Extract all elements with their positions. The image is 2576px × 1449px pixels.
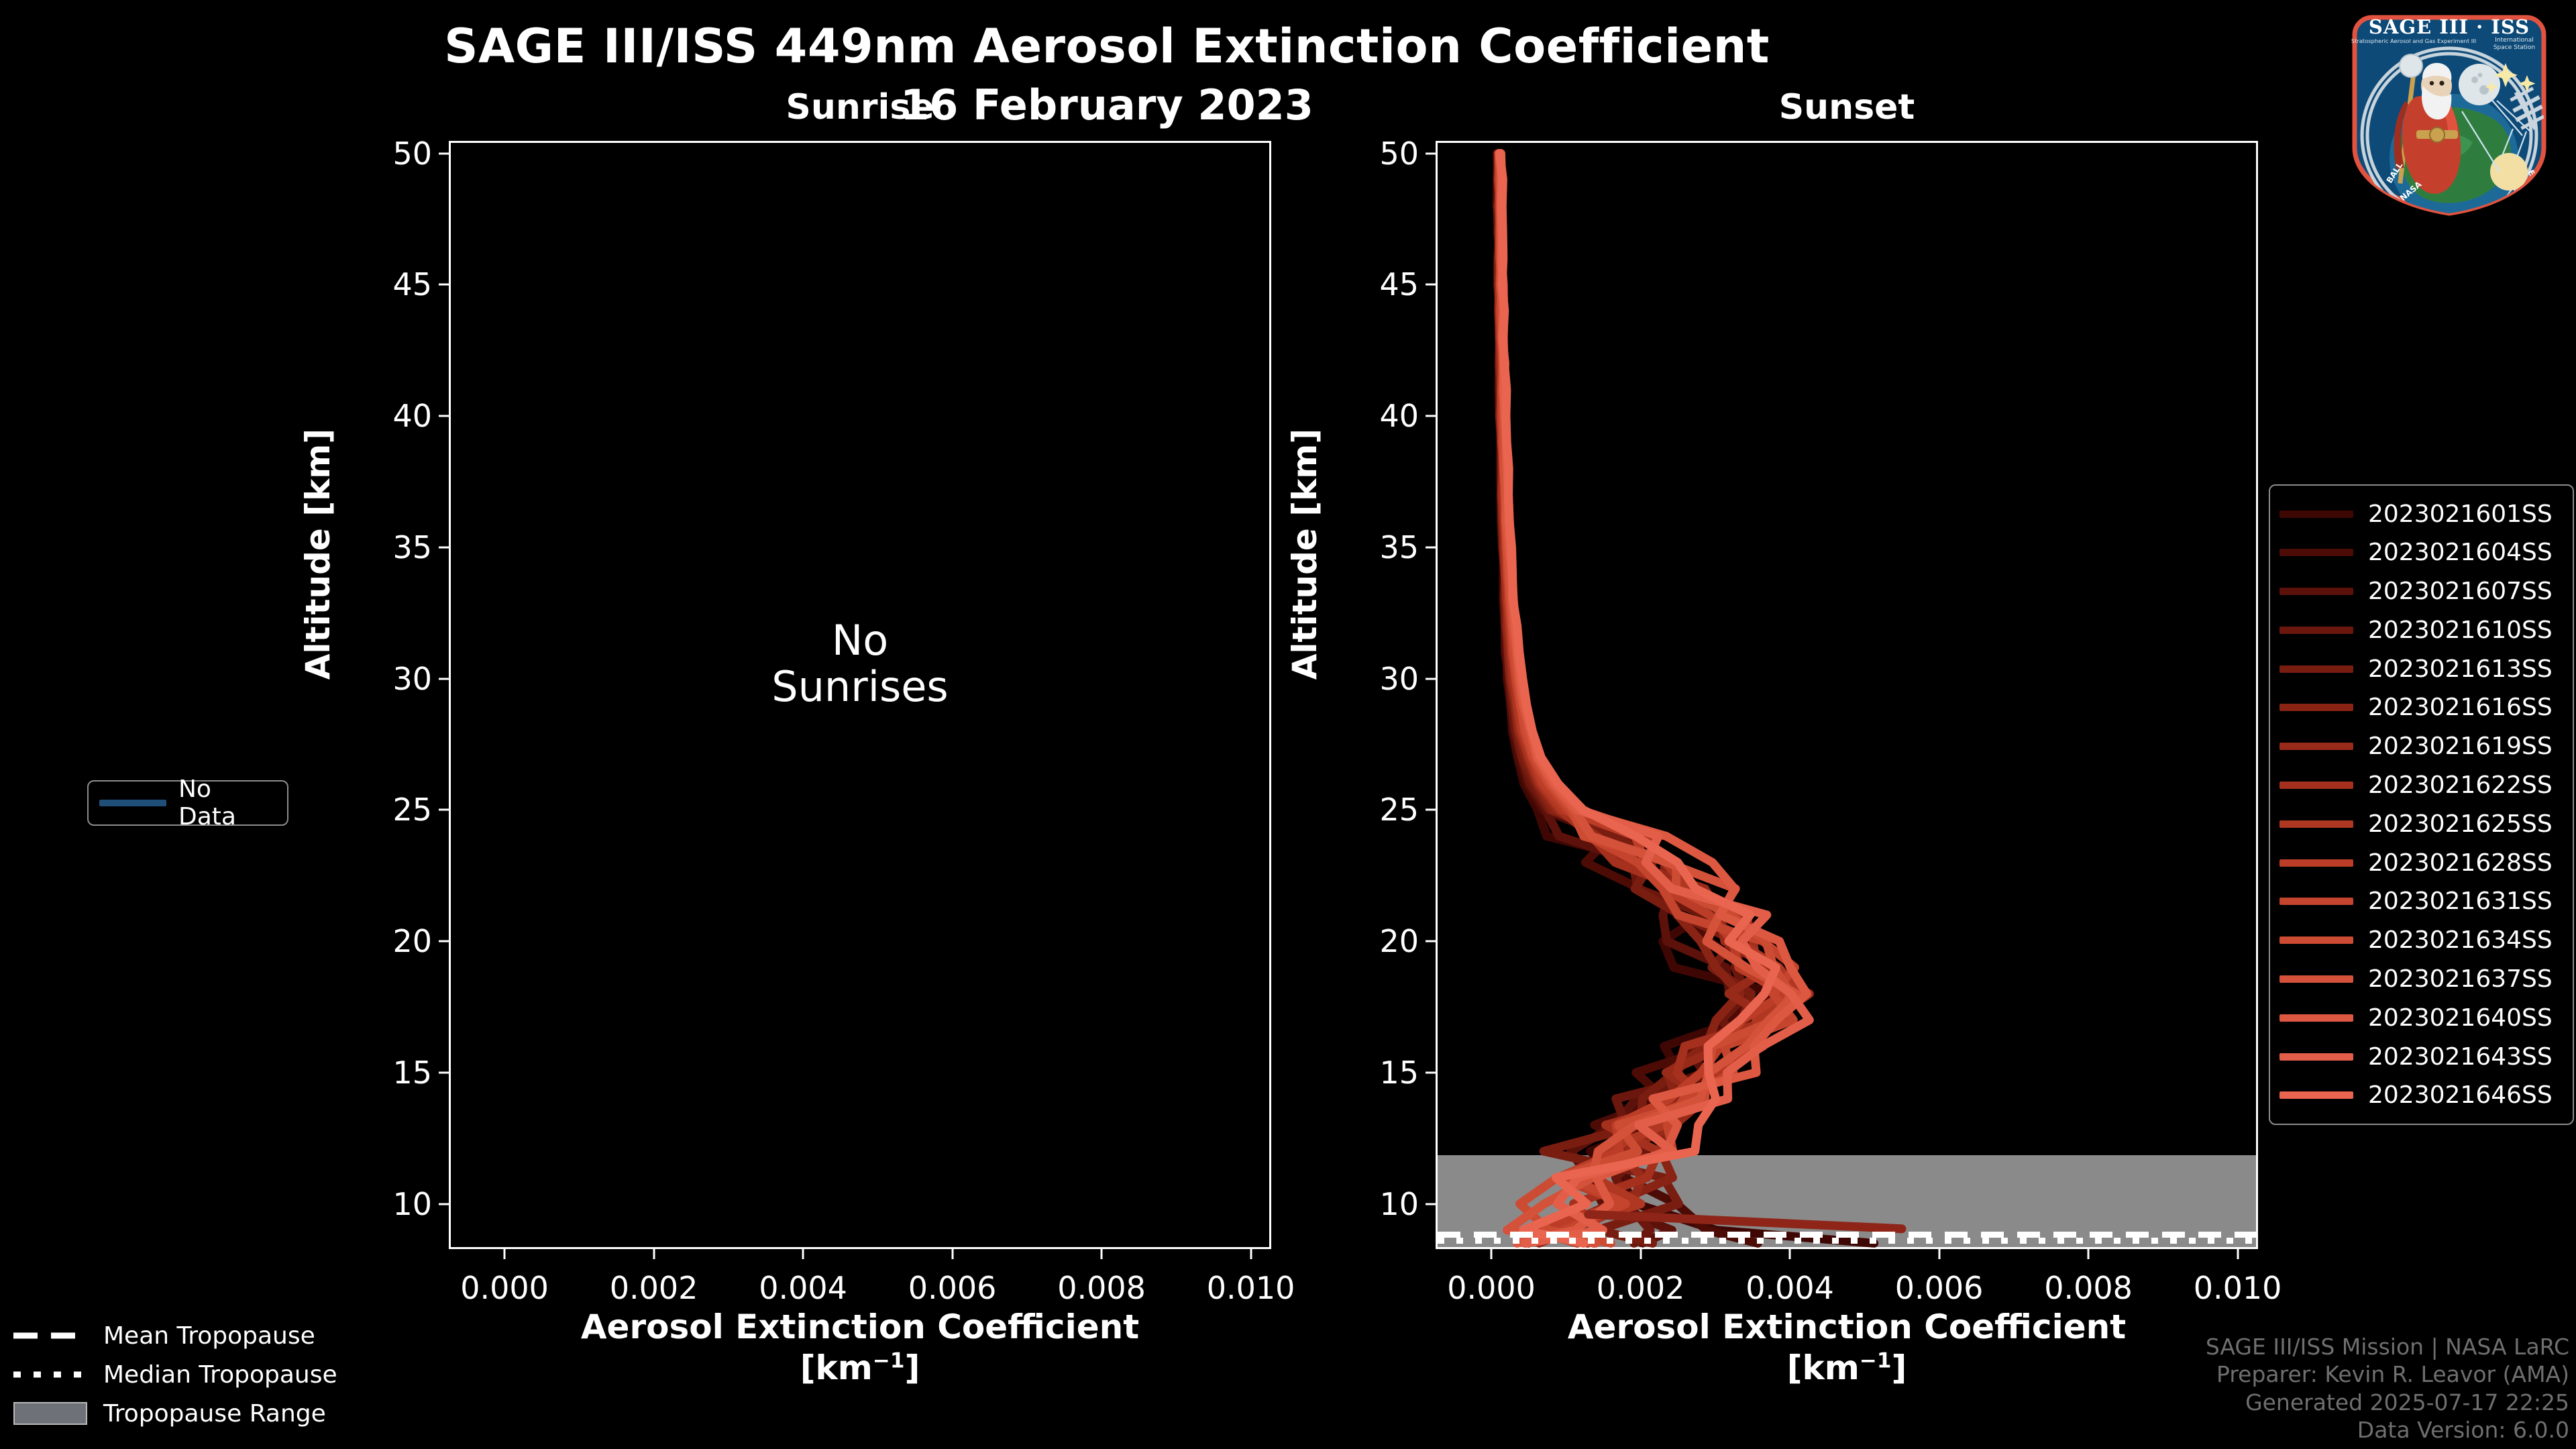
legend-item-2023021607SS[interactable]: 2023021607SS (2279, 574, 2563, 609)
x-tick-label: 0.004 (1746, 1270, 1834, 1306)
legend-item-label: 2023021634SS (2368, 926, 2553, 954)
legend-color-swatch (2279, 704, 2353, 711)
y-tick-mark (439, 415, 451, 417)
legend-item-2023021637SS[interactable]: 2023021637SS (2279, 962, 2563, 997)
legend-item-tropopause-range: Tropopause Range (13, 1396, 362, 1431)
no-data-legend: No Data (87, 780, 288, 826)
y-tick-mark (439, 152, 451, 154)
no-data-swatch (99, 800, 166, 806)
legend-color-swatch (2279, 743, 2353, 750)
y-tick-label: 15 (392, 1055, 432, 1091)
legend-item-label: 2023021637SS (2368, 965, 2553, 993)
y-tick-mark (1426, 546, 1438, 548)
y-tick-label: 30 (1379, 661, 1419, 697)
no-sunrises-line-2: Sunrises (449, 663, 1271, 710)
legend-item-2023021646SS[interactable]: 2023021646SS (2279, 1078, 2563, 1113)
dotted-line-icon (13, 1367, 87, 1382)
credits-block: SAGE III/ISS Mission | NASA LaRCPreparer… (2206, 1333, 2569, 1444)
y-tick-mark (1426, 941, 1438, 943)
sunset-x-axis-units: [km−1] (1436, 1348, 2258, 1389)
no-data-label: No Data (178, 775, 276, 830)
credit-line: Preparer: Kevin R. Leavor (AMA) (2206, 1360, 2569, 1388)
svg-text:SAGE III · ISS: SAGE III · ISS (2369, 15, 2530, 38)
series-legend[interactable]: 2023021601SS2023021604SS2023021607SS2023… (2269, 484, 2574, 1125)
legend-item-2023021628SS[interactable]: 2023021628SS (2279, 845, 2563, 880)
legend-item-2023021643SS[interactable]: 2023021643SS (2279, 1039, 2563, 1074)
legend-item-label: 2023021640SS (2368, 1004, 2553, 1032)
legend-color-swatch (2279, 1053, 2353, 1061)
y-tick-mark (439, 809, 451, 811)
legend-item-2023021604SS[interactable]: 2023021604SS (2279, 535, 2563, 570)
legend-color-swatch (2279, 627, 2353, 634)
y-tick-mark (1426, 809, 1438, 811)
x-tick-label: 0.002 (610, 1270, 698, 1306)
legend-item-label: 2023021625SS (2368, 810, 2553, 838)
x-tick-mark (2237, 1247, 2239, 1259)
x-tick-label: 0.010 (2194, 1270, 2282, 1306)
legend-item-label: 2023021619SS (2368, 733, 2553, 760)
sunset-y-axis-title: Altitude [km] (1285, 429, 1324, 680)
sunset-panel-heading: Sunset (1436, 87, 2258, 127)
y-tick-label: 50 (1379, 136, 1419, 172)
legend-item-2023021631SS[interactable]: 2023021631SS (2279, 884, 2563, 919)
y-tick-label: 15 (1379, 1055, 1419, 1091)
sunrise-x-axis-title-main: Aerosol Extinction Coefficient (449, 1307, 1271, 1348)
y-tick-label: 35 (1379, 529, 1419, 566)
y-tick-mark (1426, 284, 1438, 286)
legend-item-label: 2023021628SS (2368, 849, 2553, 877)
y-tick-mark (1426, 415, 1438, 417)
credit-line: Generated 2025-07-17 22:25 (2206, 1389, 2569, 1416)
y-tick-label: 10 (392, 1186, 432, 1222)
y-tick-label: 40 (392, 398, 432, 434)
x-tick-mark (951, 1247, 953, 1259)
x-tick-label: 0.006 (908, 1270, 997, 1306)
curves-svg (1438, 143, 2260, 1251)
legend-color-swatch (2279, 820, 2353, 828)
legend-item-2023021619SS[interactable]: 2023021619SS (2279, 729, 2563, 764)
y-tick-label: 40 (1379, 398, 1419, 434)
legend-item-label: 2023021616SS (2368, 694, 2553, 721)
svg-text:International: International (2495, 37, 2533, 44)
credit-line: Data Version: 6.0.0 (2206, 1416, 2569, 1444)
legend-item-mean-tropopause: Mean Tropopause (13, 1318, 362, 1353)
y-tick-mark (1426, 1203, 1438, 1205)
x-tick-label: 0.004 (759, 1270, 847, 1306)
y-tick-mark (439, 546, 451, 548)
median-tropopause-line (1438, 1238, 2256, 1244)
sunrise-x-axis-title: Aerosol Extinction Coefficient [km−1] (449, 1307, 1271, 1389)
x-tick-label: 0.000 (460, 1270, 549, 1306)
legend-item-label: 2023021607SS (2368, 578, 2553, 605)
x-tick-mark (1640, 1247, 1642, 1259)
y-tick-mark (1426, 152, 1438, 154)
y-tick-label: 20 (1379, 923, 1419, 959)
y-tick-label: 50 (392, 136, 432, 172)
svg-text:TAS-I: TAS-I (2509, 188, 2532, 211)
x-tick-mark (1938, 1247, 1940, 1259)
legend-item-2023021625SS[interactable]: 2023021625SS (2279, 806, 2563, 841)
y-tick-label: 45 (1379, 266, 1419, 303)
legend-item-2023021616SS[interactable]: 2023021616SS (2279, 690, 2563, 725)
svg-text:Space Station: Space Station (2493, 44, 2535, 51)
x-tick-label: 0.010 (1207, 1270, 1295, 1306)
sunrise-panel-heading: Sunrise (449, 87, 1271, 127)
sunset-x-axis-title: Aerosol Extinction Coefficient [km−1] (1436, 1307, 2258, 1389)
y-tick-label: 10 (1379, 1186, 1419, 1222)
tropopause-legend: Mean Tropopause Median Tropopause Tropop… (13, 1318, 362, 1435)
x-tick-mark (2088, 1247, 2090, 1259)
legend-item-2023021634SS[interactable]: 2023021634SS (2279, 923, 2563, 958)
legend-item-label: 2023021646SS (2368, 1081, 2553, 1109)
legend-color-swatch (2279, 1091, 2353, 1099)
legend-color-swatch (2279, 898, 2353, 905)
legend-color-swatch (2279, 975, 2353, 983)
x-tick-label: 0.002 (1597, 1270, 1685, 1306)
credit-line: SAGE III/ISS Mission | NASA LaRC (2206, 1333, 2569, 1360)
y-tick-label: 20 (392, 923, 432, 959)
no-sunrises-message: No Sunrises (449, 617, 1271, 710)
x-tick-mark (1789, 1247, 1791, 1259)
y-tick-label: 35 (392, 529, 432, 566)
median-tropopause-label: Median Tropopause (103, 1361, 337, 1389)
legend-item-2023021640SS[interactable]: 2023021640SS (2279, 1000, 2563, 1035)
sunset-plot-area: 101520253035404550 0.0000.0020.0040.0060… (1436, 141, 2258, 1249)
legend-item-label: 2023021601SS (2368, 500, 2553, 528)
legend-color-swatch (2279, 549, 2353, 556)
legend-item-label: 2023021631SS (2368, 888, 2553, 915)
y-tick-mark (439, 284, 451, 286)
mean-tropopause-line (1438, 1232, 2256, 1238)
x-tick-mark (1101, 1247, 1103, 1259)
y-tick-mark (439, 1071, 451, 1073)
extinction-profile-line (1501, 154, 1810, 1244)
extinction-profile-line (1499, 154, 1807, 1244)
sunset-x-axis-title-main: Aerosol Extinction Coefficient (1436, 1307, 2258, 1348)
gray-band-icon (13, 1406, 87, 1421)
y-tick-mark (1426, 1071, 1438, 1073)
x-tick-mark (1491, 1247, 1493, 1259)
legend-color-swatch (2279, 859, 2353, 867)
legend-color-swatch (2279, 511, 2353, 518)
legend-item-2023021613SS[interactable]: 2023021613SS (2279, 651, 2563, 686)
legend-item-label: 2023021610SS (2368, 616, 2553, 644)
x-tick-label: 0.000 (1447, 1270, 1536, 1306)
page-title: SAGE III/ISS 449nm Aerosol Extinction Co… (0, 19, 2214, 74)
no-sunrises-line-1: No (449, 617, 1271, 663)
svg-text:Stratospheric Aerosol and Gas: Stratospheric Aerosol and Gas Experiment… (2351, 38, 2476, 44)
legend-item-2023021601SS[interactable]: 2023021601SS (2279, 496, 2563, 531)
y-tick-label: 45 (392, 266, 432, 303)
x-tick-label: 0.008 (1057, 1270, 1146, 1306)
tropopause-range-label: Tropopause Range (103, 1400, 326, 1428)
sunrise-x-axis-units: [km−1] (449, 1348, 1271, 1389)
x-tick-label: 0.008 (2044, 1270, 2133, 1306)
x-tick-label: 0.006 (1895, 1270, 1984, 1306)
legend-color-swatch (2279, 936, 2353, 944)
legend-item-2023021610SS[interactable]: 2023021610SS (2279, 612, 2563, 647)
legend-item-label: 2023021604SS (2368, 539, 2553, 566)
y-tick-mark (439, 1203, 451, 1205)
x-tick-mark (1250, 1247, 1252, 1259)
legend-color-swatch (2279, 665, 2353, 673)
sunrise-y-axis-title: Altitude [km] (299, 429, 337, 680)
y-tick-label: 25 (392, 792, 432, 828)
y-tick-label: 25 (1379, 792, 1419, 828)
legend-item-label: 2023021622SS (2368, 771, 2553, 799)
legend-item-label: 2023021643SS (2368, 1043, 2553, 1071)
y-tick-mark (439, 941, 451, 943)
mean-tropopause-label: Mean Tropopause (103, 1322, 315, 1350)
legend-color-swatch (2279, 1014, 2353, 1022)
extinction-profile-line (1499, 154, 1809, 1244)
legend-color-swatch (2279, 588, 2353, 595)
y-tick-label: 30 (392, 661, 432, 697)
dashed-line-icon (13, 1328, 87, 1343)
y-tick-mark (1426, 678, 1438, 680)
x-tick-mark (504, 1247, 506, 1259)
x-tick-mark (653, 1247, 655, 1259)
legend-item-2023021622SS[interactable]: 2023021622SS (2279, 768, 2563, 803)
legend-item-median-tropopause: Median Tropopause (13, 1357, 362, 1392)
legend-color-swatch (2279, 782, 2353, 789)
sage-iii-iss-mission-patch-logo: BALL NASA TAS-I ESA SAGE III · ISS Strat… (2341, 4, 2557, 220)
legend-item-label: 2023021613SS (2368, 655, 2553, 683)
x-tick-mark (802, 1247, 804, 1259)
